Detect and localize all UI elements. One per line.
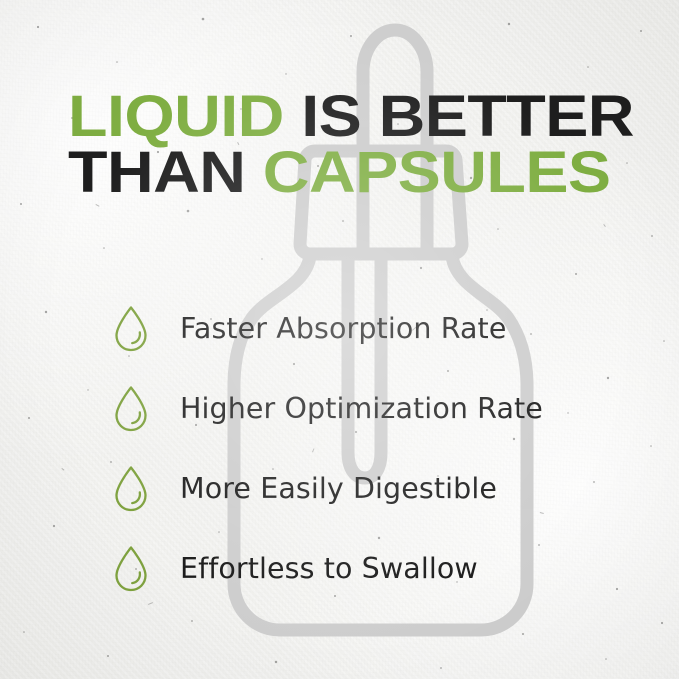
poster-canvas: LIQUID IS BETTER THAN CAPSULES Faster Ab…	[0, 0, 679, 679]
paper-vignette	[0, 0, 679, 679]
